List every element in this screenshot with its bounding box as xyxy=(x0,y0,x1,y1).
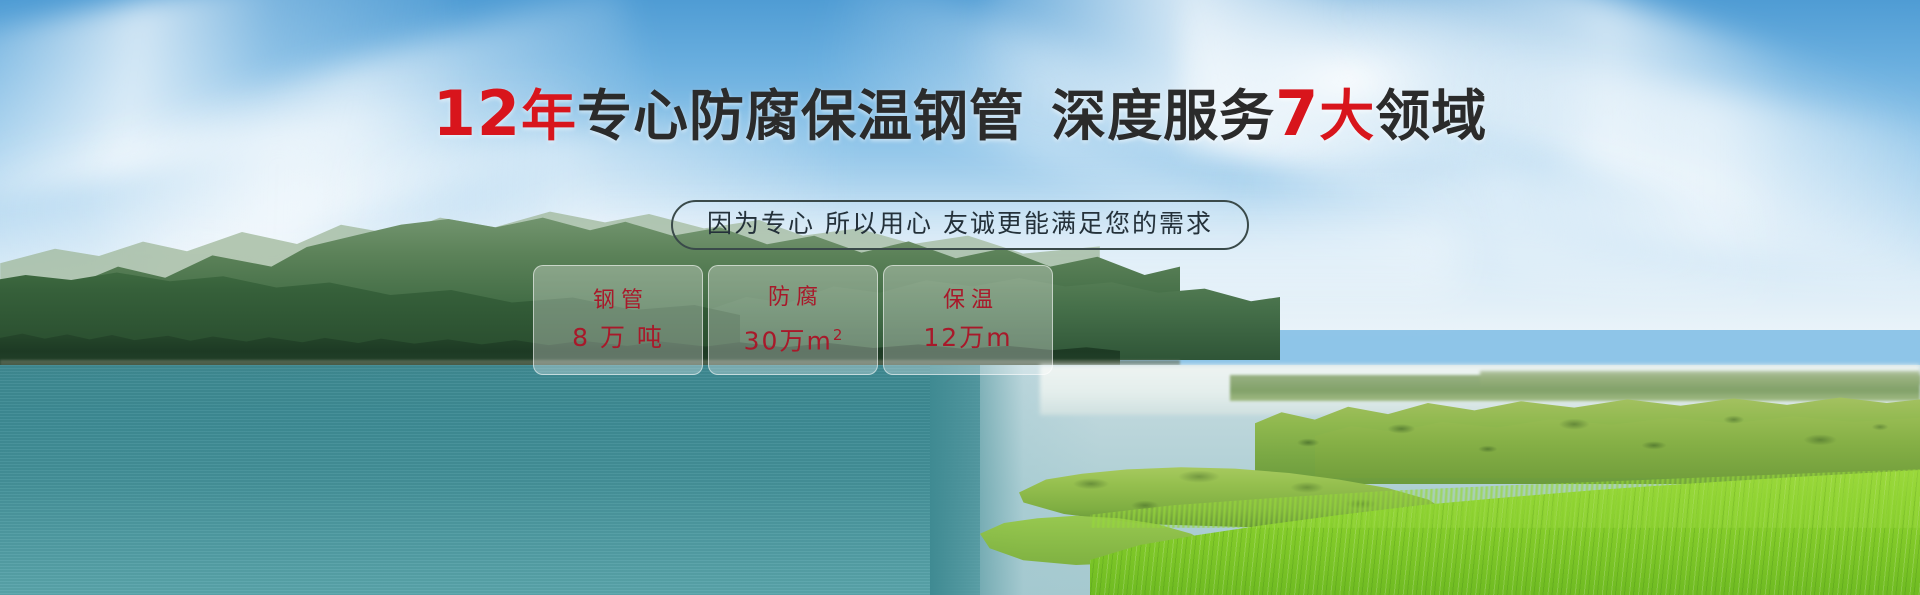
stat-card-value: 8 万 吨 xyxy=(572,324,664,352)
stat-card-value-text: 12万m xyxy=(923,323,1012,352)
headline-service-text: 深度服务 xyxy=(1051,84,1275,148)
headline-main-text: 专心防腐保温钢管 xyxy=(577,84,1025,148)
banner-headline: 12年专心防腐保温钢管深度服务7大领域 xyxy=(0,84,1920,146)
headline-years-number: 12 xyxy=(433,77,521,150)
stat-card-group: 钢管 8 万 吨 防腐 30万m2 保温 12万m xyxy=(533,265,1053,375)
stat-card-title: 防腐 xyxy=(762,285,824,311)
stat-card-steel-pipe[interactable]: 钢管 8 万 吨 xyxy=(533,265,703,375)
stat-card-value: 30万m2 xyxy=(744,321,843,355)
stat-card-title: 钢管 xyxy=(587,288,649,314)
headline-fields-unit: 大 xyxy=(1319,84,1375,148)
headline-fields-text: 领域 xyxy=(1375,84,1487,148)
stat-card-value-superscript: 2 xyxy=(833,326,843,344)
stat-card-title: 保温 xyxy=(937,288,999,314)
banner-subtitle-wrapper: 因为专心 所以用心 友诚更能满足您的需求 xyxy=(0,200,1920,250)
hero-banner: 12年专心防腐保温钢管深度服务7大领域 因为专心 所以用心 友诚更能满足您的需求… xyxy=(0,0,1920,595)
stat-card-value-text: 8 万 吨 xyxy=(572,323,664,352)
stat-card-value: 12万m xyxy=(923,324,1012,352)
stat-card-value-text: 30万m xyxy=(744,326,833,355)
banner-content: 12年专心防腐保温钢管深度服务7大领域 因为专心 所以用心 友诚更能满足您的需求… xyxy=(0,0,1920,595)
stat-card-anticorrosion[interactable]: 防腐 30万m2 xyxy=(708,265,878,375)
headline-years-unit: 年 xyxy=(521,84,577,148)
stat-card-insulation[interactable]: 保温 12万m xyxy=(883,265,1053,375)
banner-subtitle-pill: 因为专心 所以用心 友诚更能满足您的需求 xyxy=(671,200,1249,250)
headline-fields-number: 7 xyxy=(1275,77,1319,150)
